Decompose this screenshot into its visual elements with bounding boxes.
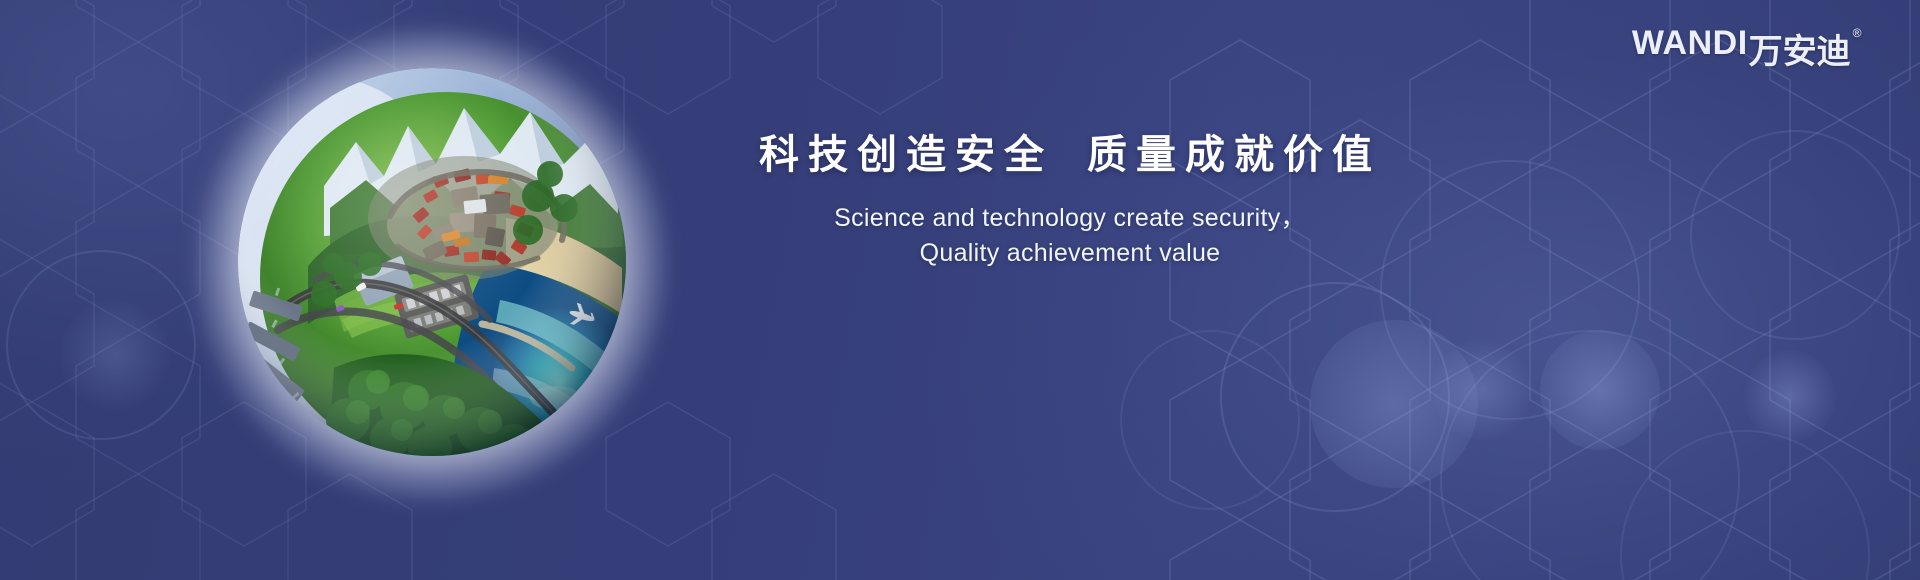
- subtitle: Science and technology create security， …: [700, 201, 1440, 270]
- bokeh-circle: [1220, 282, 1450, 512]
- slogan-block: 科技创造安全质量成就价值 Science and technology crea…: [700, 132, 1440, 270]
- bokeh-circle: [6, 250, 196, 440]
- bokeh-circle: [1690, 130, 1900, 340]
- bokeh-circle: [1744, 350, 1836, 442]
- brand-logo[interactable]: WANDI万安迪®: [1632, 24, 1862, 73]
- bokeh-circle: [1432, 340, 1532, 440]
- bokeh-circle: [1440, 330, 1740, 580]
- bokeh-circle: [1120, 330, 1300, 510]
- hero-banner: WANDI万安迪® 科技创造安全质量成就价值 Science and techn…: [0, 0, 1920, 580]
- globe-illustration: [196, 30, 666, 500]
- subtitle-line-2: Quality achievement value: [700, 236, 1440, 271]
- headline-part-left: 科技创造安全: [759, 133, 1053, 177]
- subtitle-line-1: Science and technology create security，: [700, 201, 1440, 236]
- headline: 科技创造安全质量成就价值: [700, 132, 1440, 179]
- bokeh-circle: [1540, 330, 1660, 450]
- brand-logo-latin: WANDI: [1632, 24, 1748, 63]
- bokeh-circle: [60, 300, 170, 410]
- headline-part-right: 质量成就价值: [1087, 133, 1381, 177]
- bokeh-circle: [1620, 430, 1870, 580]
- bokeh-circle: [1310, 320, 1478, 488]
- tiny-planet-image: [238, 68, 626, 456]
- registered-trademark-icon: ®: [1853, 27, 1862, 39]
- brand-logo-chinese: 万安迪: [1749, 24, 1851, 73]
